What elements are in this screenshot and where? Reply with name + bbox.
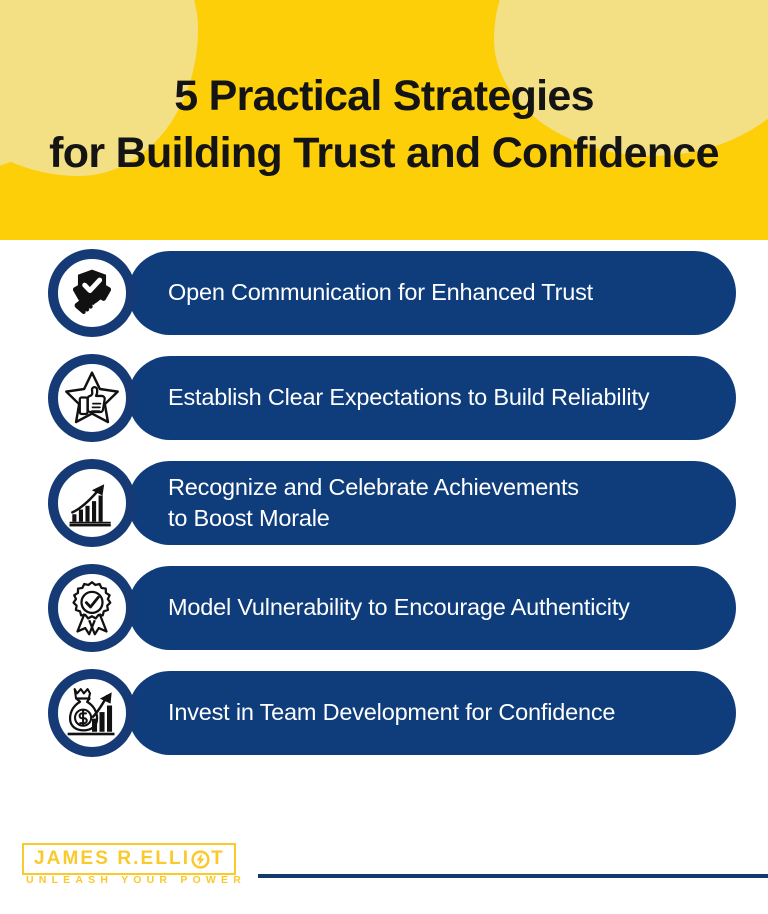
lightning-bolt-icon: [191, 850, 210, 869]
strategy-list: Open Communication for Enhanced Trust: [0, 240, 768, 765]
strategy-pill-3[interactable]: Recognize and Celebrate Achievements to …: [128, 461, 736, 545]
brand-logo-text: JAMES R.ELLI: [34, 849, 190, 869]
list-item[interactable]: Establish Clear Expectations to Build Re…: [0, 345, 768, 450]
footer-divider: [258, 874, 768, 878]
handshake-shield-check-icon: [48, 249, 136, 337]
strategy-label-2: Establish Clear Expectations to Build Re…: [168, 382, 649, 413]
brand-tagline: UNLEASH YOUR POWER: [26, 874, 246, 886]
list-item[interactable]: Model Vulnerability to Encourage Authent…: [0, 555, 768, 660]
list-item[interactable]: Invest in Team Development for Confidenc…: [0, 660, 768, 765]
list-item[interactable]: Open Communication for Enhanced Trust: [0, 240, 768, 345]
infographic-poster: 5 Practical Strategies for Building Trus…: [0, 0, 768, 914]
strategy-pill-2[interactable]: Establish Clear Expectations to Build Re…: [128, 356, 736, 440]
list-item[interactable]: Recognize and Celebrate Achievements to …: [0, 450, 768, 555]
award-ribbon-check-icon: [48, 564, 136, 652]
money-bag-growth-icon: [48, 669, 136, 757]
footer: JAMES R.ELLI T UNLEASH YOUR POWER: [0, 830, 768, 914]
strategy-pill-5[interactable]: Invest in Team Development for Confidenc…: [128, 671, 736, 755]
strategy-label-5: Invest in Team Development for Confidenc…: [168, 697, 615, 728]
star-thumbs-up-icon: [48, 354, 136, 442]
brand-logo-text-end: T: [211, 849, 225, 869]
strategy-label-1: Open Communication for Enhanced Trust: [168, 277, 593, 308]
growth-chart-arrow-icon: [48, 459, 136, 547]
header-banner: 5 Practical Strategies for Building Trus…: [0, 0, 768, 240]
strategy-label-4: Model Vulnerability to Encourage Authent…: [168, 592, 630, 623]
strategy-label-3: Recognize and Celebrate Achievements to …: [168, 472, 579, 534]
strategy-pill-4[interactable]: Model Vulnerability to Encourage Authent…: [128, 566, 736, 650]
page-title: 5 Practical Strategies for Building Trus…: [0, 68, 768, 182]
strategy-pill-1[interactable]: Open Communication for Enhanced Trust: [128, 251, 736, 335]
brand-logo[interactable]: JAMES R.ELLI T: [22, 843, 236, 875]
